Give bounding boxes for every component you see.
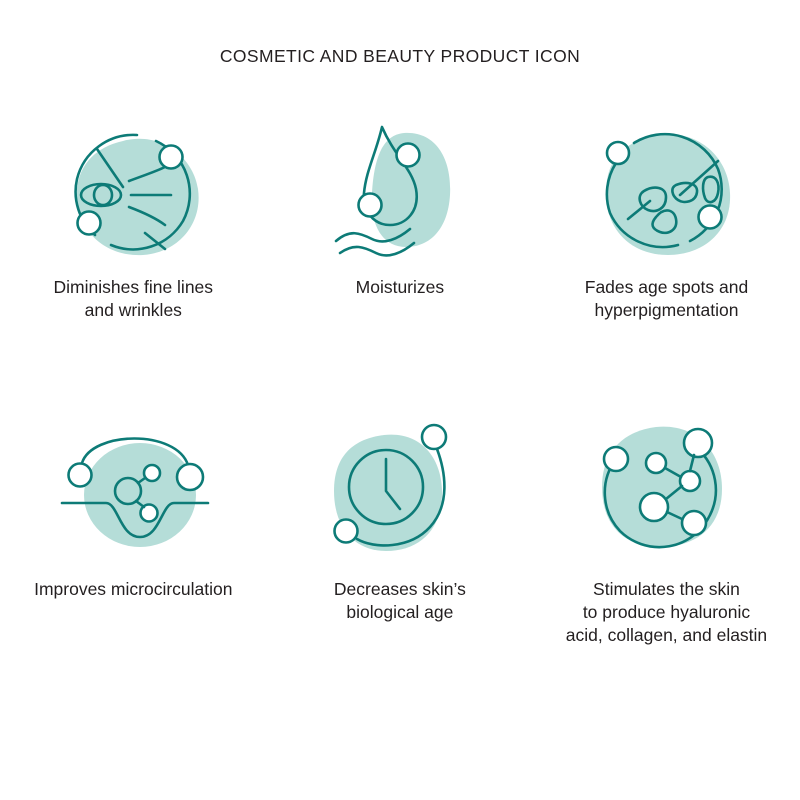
icon-card-improves-microcirculation[interactable]: Improves microcirculation bbox=[0, 410, 267, 648]
icon-set-page: COSMETIC AND BEAUTY PRODUCT ICON bbox=[0, 0, 800, 800]
water-droplet-icon bbox=[300, 108, 500, 268]
icon-card-decreases-biological-age[interactable]: Decreases skin’s biological age bbox=[267, 410, 534, 648]
icon-grid: Diminishes fine lines and wrinkles bbox=[0, 108, 800, 647]
icon-card-fades-age-spots[interactable]: Fades age spots and hyperpigmentation bbox=[533, 108, 800, 323]
molecule-network-icon bbox=[566, 410, 766, 570]
age-spots-icon bbox=[566, 108, 766, 268]
microcirculation-molecule-icon bbox=[33, 410, 233, 570]
eye-wrinkles-icon bbox=[33, 108, 233, 268]
icon-caption: Stimulates the skin to produce hyaluroni… bbox=[541, 578, 791, 648]
icon-caption: Improves microcirculation bbox=[34, 578, 232, 601]
icon-caption: Decreases skin’s biological age bbox=[334, 578, 466, 625]
icon-card-diminishes-fine-lines[interactable]: Diminishes fine lines and wrinkles bbox=[0, 108, 267, 323]
icon-row-top: Diminishes fine lines and wrinkles bbox=[0, 108, 800, 323]
page-title: COSMETIC AND BEAUTY PRODUCT ICON bbox=[0, 46, 800, 67]
icon-caption: Moisturizes bbox=[356, 276, 445, 299]
icon-caption: Fades age spots and hyperpigmentation bbox=[541, 276, 791, 323]
icon-caption: Diminishes fine lines and wrinkles bbox=[8, 276, 258, 323]
icon-row-bottom: Improves microcirculation bbox=[0, 410, 800, 648]
icon-card-moisturizes[interactable]: Moisturizes bbox=[267, 108, 534, 323]
icon-card-stimulates-skin[interactable]: Stimulates the skin to produce hyaluroni… bbox=[533, 410, 800, 648]
clock-icon bbox=[300, 410, 500, 570]
